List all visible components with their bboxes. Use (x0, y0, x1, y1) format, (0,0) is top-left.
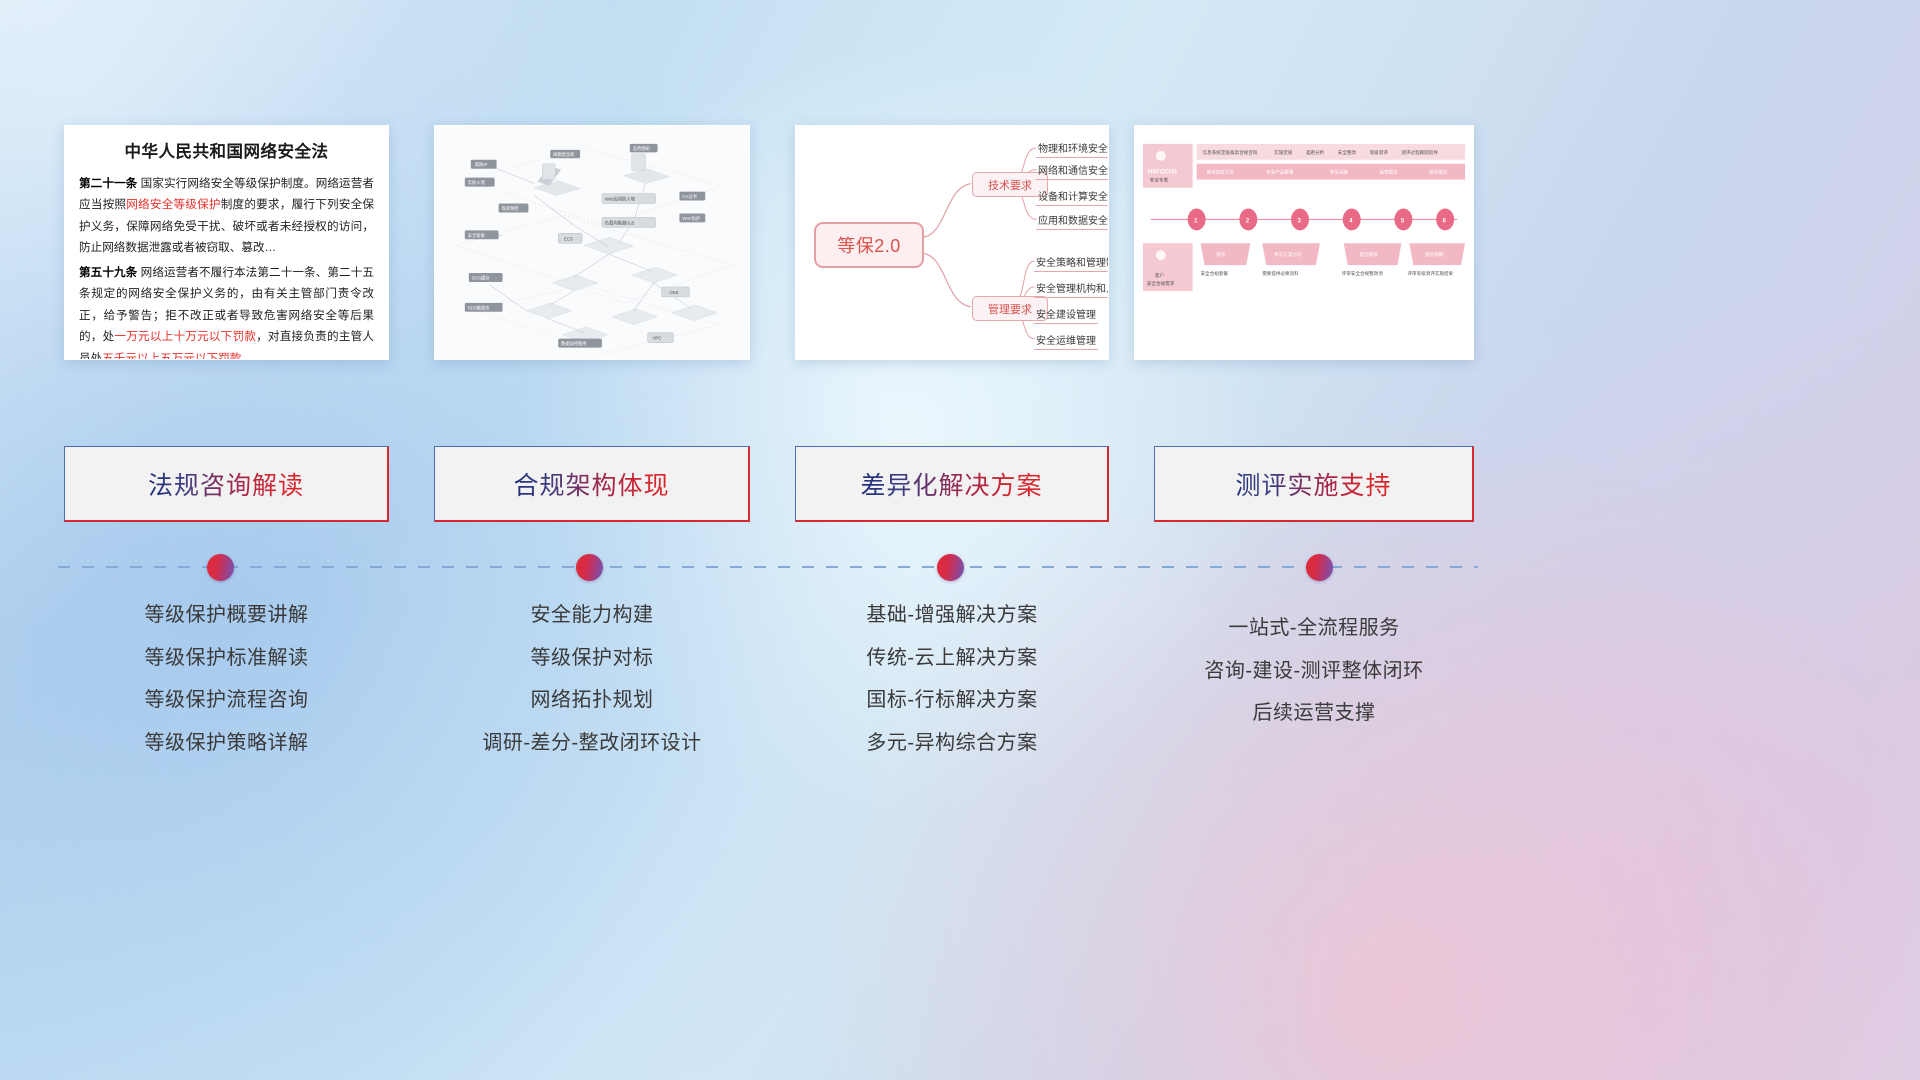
svg-text:等保预检: 等保预检 (502, 205, 520, 212)
svg-text:WAF防护: WAF防护 (682, 215, 700, 222)
svg-text:评审安全合规整改项: 评审安全合规整改项 (1342, 270, 1384, 277)
section-label-compliance-architecture[interactable]: 合规架构体现 (434, 446, 750, 522)
svg-text:测评过程跟踪指导: 测评过程跟踪指导 (1401, 149, 1438, 156)
card-nsfocus-service-flow[interactable]: NSFOCUS 安全专家 信息系统定级备案合规咨询 实施定级 差距分析 安全整改… (1134, 125, 1474, 360)
section-label-regulation-consulting[interactable]: 法规咨询解读 (64, 446, 389, 522)
law-document: 中华人民共和国网络安全法 第二十一条 国家实行网络安全等级保护制度。网络运营者应… (65, 126, 388, 360)
svg-text:数据加密服务: 数据加密服务 (561, 340, 587, 347)
svg-text:高防IP: 高防IP (475, 161, 488, 168)
svg-text:信息系统定级备案合规咨询: 信息系统定级备案合规咨询 (1203, 149, 1258, 156)
svg-text:参与方案讨论: 参与方案讨论 (1274, 251, 1302, 258)
timeline-dot-2[interactable] (576, 554, 603, 581)
svg-text:负载均衡器SLB: 负载均衡器SLB (605, 219, 635, 226)
architecture-diagram: 基础合规架构增强合规架构 (435, 126, 749, 359)
list-item: 后续运营支撑 (1154, 703, 1474, 723)
svg-text:购买: 购买 (1217, 251, 1227, 258)
mindmap-leaf-appdata: 应用和数据安全 (1036, 212, 1109, 230)
mindmap-leaf-device: 设备和计算安全 (1036, 188, 1109, 206)
page-root: 中华人民共和国网络安全法 第二十一条 国家实行网络安全等级保护制度。网络运营者应… (0, 0, 1920, 1080)
svg-text:安全产品部署: 安全产品部署 (1266, 169, 1294, 176)
svg-text:服务到期: 服务到期 (1425, 251, 1444, 258)
svg-text:安全合规需求: 安全合规需求 (1147, 280, 1175, 287)
mindmap-leaf-physical: 物理和环境安全 (1036, 140, 1109, 158)
preview-cards-row: 中华人民共和国网络安全法 第二十一条 国家实行网络安全等级保护制度。网络运营者应… (0, 125, 1920, 360)
timeline-dot-4[interactable] (1306, 554, 1333, 581)
svg-text:安全专家: 安全专家 (1150, 177, 1169, 184)
section-label-text-3: 差异化解决方案 (860, 466, 1042, 502)
list-item: 多元-异构综合方案 (795, 733, 1109, 753)
svg-text:客户: 客户 (1155, 272, 1164, 279)
section-items-row: 等级保护概要讲解 等级保护标准解读 等级保护流程咨询 等级保护策略详解 安全能力… (0, 605, 1920, 805)
card-compliance-architecture[interactable]: 基础合规架构增强合规架构 (434, 125, 750, 360)
svg-text:OCS缓存: OCS缓存 (472, 275, 491, 282)
svg-text:NSFOCUS: NSFOCUS (1148, 170, 1177, 176)
section-items-column-3: 基础-增强解决方案 传统-云上解决方案 国标-行标解决方案 多元-异构综合方案 (795, 605, 1109, 775)
list-item: 等级保护流程咨询 (64, 690, 389, 710)
list-item: 等级保护策略详解 (64, 733, 389, 753)
svg-text:安全整改: 安全整改 (1338, 149, 1357, 156)
section-labels-row: 法规咨询解读 合规架构体现 差异化解决方案 测评实施支持 (0, 446, 1920, 522)
mindmap-leaf-network: 网络和通信安全 (1036, 162, 1109, 180)
timeline-dot-3[interactable] (937, 554, 964, 581)
section-items-column-4: 一站式-全流程服务 咨询-建设-测评整体闭环 后续运营支撑 (1154, 605, 1474, 746)
law-article-21-highlight: 网络安全等级保护 (126, 198, 220, 211)
svg-text:等级测评: 等级测评 (1370, 149, 1389, 156)
svg-text:运营报告: 运营报告 (1380, 169, 1399, 176)
list-item: 一站式-全流程服务 (1154, 618, 1474, 638)
svg-text:评审等级测评实施结果: 评审等级测评实施结果 (1407, 270, 1453, 277)
law-title: 中华人民共和国网络安全法 (79, 138, 374, 162)
section-label-evaluation-support[interactable]: 测评实施支持 (1154, 446, 1474, 522)
law-article-59-highlight-2: 五千元以上五万元以下罚款。 (102, 352, 253, 361)
mindmap: 等保2.0 技术要求 管理要求 物理和环境安全 网络和通信安全 设备和计算安全 … (796, 126, 1108, 359)
list-item: 传统-云上解决方案 (795, 648, 1109, 668)
list-item: 等级保护概要讲解 (64, 605, 389, 625)
list-item: 国标-行标解决方案 (795, 690, 1109, 710)
svg-text:Web应用防火墙: Web应用防火墙 (605, 196, 636, 203)
section-items-column-1: 等级保护概要讲解 等级保护标准解读 等级保护流程咨询 等级保护策略详解 (64, 605, 389, 775)
timeline-dot-1[interactable] (207, 554, 234, 581)
svg-text:安全运维: 安全运维 (1330, 169, 1349, 176)
nsfocus-diagram: NSFOCUS 安全专家 信息系统定级备案合规咨询 实施定级 差距分析 安全整改… (1135, 126, 1473, 359)
mindmap-root: 等保2.0 (814, 222, 924, 268)
svg-text:实施定级: 实施定级 (1274, 149, 1293, 156)
mindmap-leaf-ops: 安全运维管理 (1034, 332, 1098, 350)
svg-text:解读定级方案: 解读定级方案 (1207, 169, 1235, 176)
svg-text:差距分析: 差距分析 (1306, 149, 1325, 156)
law-article-59: 第五十九条 网络运营者不履行本法第二十一条、第二十五条规定的网络安全保护义务的，… (79, 262, 374, 360)
svg-text:OSS: OSS (669, 290, 678, 295)
svg-text:CA证书: CA证书 (682, 193, 697, 200)
list-item: 咨询-建设-测评整体闭环 (1154, 661, 1474, 681)
timeline-dashed-line (58, 566, 1478, 568)
list-item: 网络拓扑规划 (434, 690, 750, 710)
list-item: 调研-差分-整改闭环设计 (434, 733, 750, 753)
svg-text:安全合规套餐: 安全合规套餐 (1201, 270, 1229, 277)
svg-text:需要提供必要资料: 需要提供必要资料 (1262, 270, 1299, 277)
list-item: 基础-增强解决方案 (795, 605, 1109, 625)
svg-text:提出审核: 提出审核 (1360, 251, 1379, 258)
law-article-21: 第二十一条 国家实行网络安全等级保护制度。网络运营者应当按照网络安全等级保护制度… (79, 173, 374, 259)
law-article-59-label: 第五十九条 (79, 266, 137, 279)
section-items-column-2: 安全能力构建 等级保护对标 网络拓扑规划 调研-差分-整改闭环设计 (434, 605, 750, 775)
svg-text:RDS数据库: RDS数据库 (468, 304, 491, 311)
svg-text:态势感知: 态势感知 (633, 145, 650, 152)
section-label-text-4: 测评实施支持 (1235, 466, 1391, 502)
list-item: 等级保护对标 (434, 648, 750, 668)
svg-text:安全管家: 安全管家 (468, 232, 486, 239)
mindmap-leaf-policy: 安全策略和管理制度 (1034, 254, 1109, 272)
section-label-differentiated-solution[interactable]: 差异化解决方案 (795, 446, 1109, 522)
svg-text:服务报告: 服务报告 (1429, 169, 1448, 176)
section-label-text-1: 法规咨询解读 (148, 466, 304, 502)
svg-text:ECS: ECS (564, 236, 573, 241)
nsfocus-canvas: NSFOCUS 安全专家 信息系统定级备案合规咨询 实施定级 差距分析 安全整改… (1135, 126, 1473, 360)
list-item: 安全能力构建 (434, 605, 750, 625)
card-cybersecurity-law[interactable]: 中华人民共和国网络安全法 第二十一条 国家实行网络安全等级保护制度。网络运营者应… (64, 125, 389, 360)
law-article-59-highlight-1: 一万元以上十万元以下罚款 (114, 330, 256, 343)
law-article-21-label: 第二十一条 (79, 177, 137, 190)
architecture-canvas: 高防IP 云防火墙 等保预检 安全管家 网御堡垒机 态势感知 CA证书 (435, 126, 749, 360)
card-mindmap-dengbao[interactable]: 等保2.0 技术要求 管理要求 物理和环境安全 网络和通信安全 设备和计算安全 … (795, 125, 1109, 360)
svg-text:网御堡垒机: 网御堡垒机 (553, 151, 575, 158)
svg-text:云防火墙: 云防火墙 (468, 179, 486, 186)
mindmap-leaf-build: 安全建设管理 (1034, 306, 1098, 324)
section-label-text-2: 合规架构体现 (513, 466, 669, 502)
svg-text:VPC: VPC (653, 336, 662, 341)
mindmap-leaf-org: 安全管理机构和人员 (1034, 280, 1109, 298)
list-item: 等级保护标准解读 (64, 648, 389, 668)
